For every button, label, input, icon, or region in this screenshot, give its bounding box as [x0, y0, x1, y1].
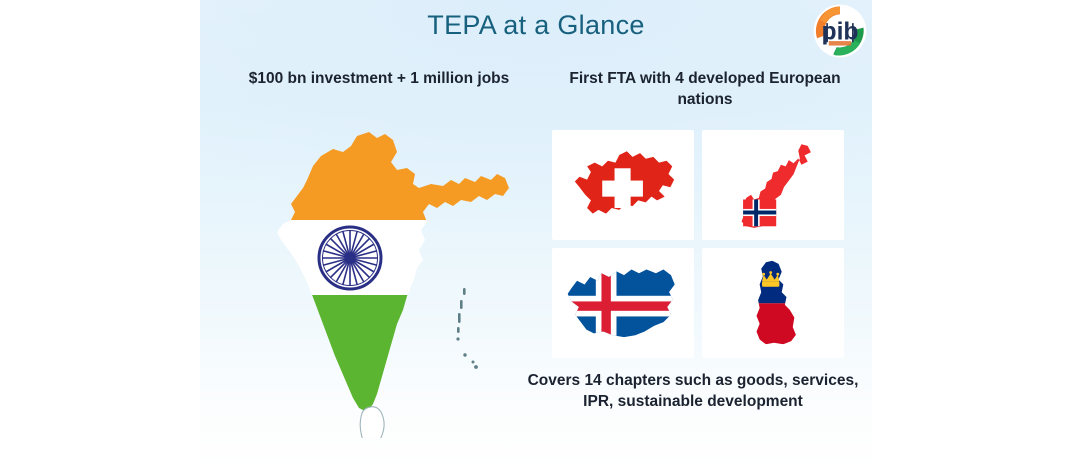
- flag-map-grid: [552, 130, 844, 358]
- norway-map-flag: [702, 130, 844, 240]
- iceland-map-flag: [552, 248, 694, 358]
- caption-investment-jobs: $100 bn investment + 1 million jobs: [214, 68, 544, 89]
- india-map-tricolour: [242, 108, 552, 438]
- page-title: TEPA at a Glance: [200, 10, 872, 41]
- slide-content-panel: TEPA at a Glance pib $10: [200, 0, 872, 470]
- caption-first-fta: First FTA with 4 developed European nati…: [550, 68, 860, 111]
- slide-screen: TEPA at a Glance pib $10: [0, 0, 1070, 470]
- liechtenstein-map-flag: [702, 248, 844, 358]
- caption-chapters-covered: Covers 14 chapters such as goods, servic…: [518, 370, 868, 413]
- pib-logo: pib: [812, 3, 868, 55]
- switzerland-map-flag: [552, 130, 694, 240]
